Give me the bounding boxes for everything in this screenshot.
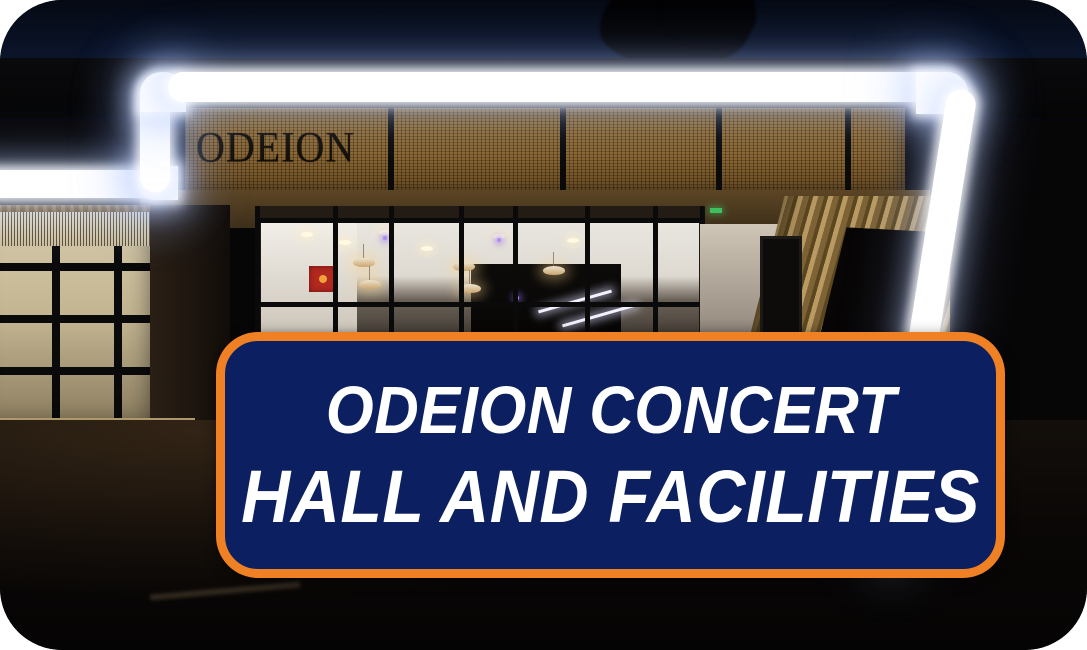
lattice-mullion — [845, 108, 851, 194]
pendant-lamp-icon — [543, 266, 565, 275]
ceiling-light-icon — [421, 246, 433, 251]
violet-indicator-light — [383, 236, 387, 240]
building-sign-text: ODEION — [196, 126, 396, 169]
pendant-lamp-icon — [359, 280, 381, 289]
banner-title-line-2: HALL AND FACILITIES — [241, 460, 980, 534]
ceiling-light-icon — [567, 238, 579, 243]
ground-reflection — [150, 581, 300, 600]
lobby-mullion — [255, 302, 705, 307]
lattice-mullion — [716, 108, 722, 194]
violet-indicator-light — [497, 238, 501, 242]
title-banner: ODEION CONCERT HALL AND FACILITIES — [216, 332, 1005, 578]
lobby-mullion — [255, 218, 705, 223]
ceiling-light-icon — [339, 240, 351, 245]
pendant-lamp-icon — [453, 262, 475, 271]
lattice-mullion — [560, 108, 566, 194]
ceiling-light-icon — [301, 232, 313, 237]
neon-light-tube — [168, 72, 958, 102]
building-photograph: ODEION — [0, 0, 1087, 650]
left-wall-clerestory — [0, 212, 170, 246]
pendant-lamp-icon — [353, 258, 375, 267]
exit-sign-icon — [710, 208, 722, 213]
poster-card: ODEION — [0, 0, 1087, 650]
banner-title-line-1: ODEION CONCERT — [325, 377, 895, 444]
